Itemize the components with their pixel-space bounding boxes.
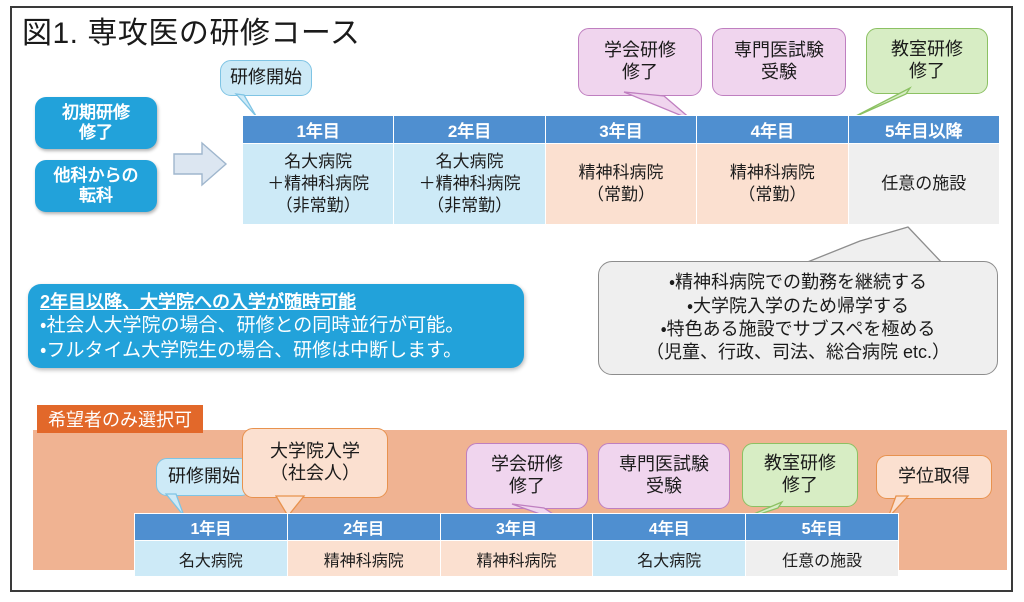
callout-label: 学会研修修了 xyxy=(491,454,563,498)
callout-kyoshitsu-kenshu-shuryo-top: 教室研修修了 xyxy=(866,28,988,94)
table-row: 名大病院＋精神科病院（非常勤） 名大病院＋精神科病院（非常勤） 精神科病院（常勤… xyxy=(243,144,1000,225)
training-track-table-top: 1年目 2年目 3年目 4年目 5年目以降 名大病院＋精神科病院（非常勤） 名大… xyxy=(242,115,1000,225)
entry-box-label: 初期研修修了 xyxy=(62,103,130,143)
note-line-1: ・精神科病院での勤務を継続する xyxy=(669,271,927,294)
callout-label: 学会研修修了 xyxy=(604,40,676,84)
page-title: 図1. 専攻医の研修コース xyxy=(22,8,360,52)
column-header-year3: 3年目 xyxy=(545,116,696,144)
callout-kyoshitsu-kenshu-shuryo-bottom: 教室研修修了 xyxy=(742,443,858,507)
column-header-year4: 4年目 xyxy=(593,514,746,541)
entry-box-label: 他科からの転科 xyxy=(54,166,139,206)
callout-label: 研修開始 xyxy=(168,466,240,488)
info-panel-line-2: ・フルタイム大学院生の場合、研修は中断します。 xyxy=(40,339,514,364)
note-line-2: ・大学院入学のため帰学する xyxy=(687,295,909,318)
table-cell-year2: 名大病院＋精神科病院（非常勤） xyxy=(394,144,545,225)
callout-label: 大学院入学（社会人） xyxy=(270,441,360,485)
callout-label: 学位取得 xyxy=(898,466,970,488)
column-header-year5plus: 5年目以降 xyxy=(848,116,999,144)
callout-kenshu-kaishi-bottom: 研修開始 xyxy=(156,458,252,496)
callout-kenshu-kaishi-top: 研修開始 xyxy=(220,60,312,96)
callout-senmoni-shiken-jyuken-top: 専門医試験受験 xyxy=(712,28,846,96)
table-cell-year4: 名大病院 xyxy=(593,541,746,577)
column-header-year1: 1年目 xyxy=(243,116,394,144)
callout-gakkai-kenshu-shuryo-bottom: 学会研修修了 xyxy=(466,443,588,509)
training-track-table-bottom: 1年目 2年目 3年目 4年目 5年目 名大病院 精神科病院 精神科病院 名大病… xyxy=(134,513,899,577)
note-line-4: （児童、行政、司法、総合病院 etc.） xyxy=(646,341,950,364)
table-cell-year5plus: 任意の施設 xyxy=(848,144,999,225)
info-panel-heading: 2年目以降、大学院への入学が随時可能 xyxy=(40,290,514,314)
column-header-year5: 5年目 xyxy=(746,514,899,541)
info-panel-line-1: ・社会人大学院の場合、研修との同時並行が可能。 xyxy=(40,314,514,339)
table-cell-year2: 精神科病院 xyxy=(287,541,440,577)
table-cell-year1: 名大病院 xyxy=(135,541,288,577)
optional-track-badge: 希望者のみ選択可 xyxy=(37,405,203,433)
table-cell-year1: 名大病院＋精神科病院（非常勤） xyxy=(243,144,394,225)
figure-canvas: 図1. 専攻医の研修コース 初期研修修了 他科からの転科 研修開始 学会研修修了… xyxy=(0,0,1024,602)
table-header-row: 1年目 2年目 3年目 4年目 5年目以降 xyxy=(243,116,1000,144)
callout-gakui-shutoku: 学位取得 xyxy=(876,455,992,499)
callout-label: 専門医試験受験 xyxy=(619,454,709,498)
callout-label: 専門医試験受験 xyxy=(734,40,824,84)
info-panel-graduate-school: 2年目以降、大学院への入学が随時可能 ・社会人大学院の場合、研修との同時並行が可… xyxy=(28,284,524,368)
callout-daigakuin-nyugaku: 大学院入学（社会人） xyxy=(242,428,388,498)
callout-senmoni-shiken-jyuken-bottom: 専門医試験受験 xyxy=(598,443,730,509)
note-panel-year5-options: ・精神科病院での勤務を継続する ・大学院入学のため帰学する ・特色ある施設でサブ… xyxy=(598,261,998,375)
table-cell-year5: 任意の施設 xyxy=(746,541,899,577)
column-header-year2: 2年目 xyxy=(394,116,545,144)
entry-box-takka-tenka: 他科からの転科 xyxy=(35,160,157,212)
column-header-year1: 1年目 xyxy=(135,514,288,541)
entry-box-shoki-kenshu: 初期研修修了 xyxy=(35,97,157,149)
column-header-year3: 3年目 xyxy=(440,514,593,541)
table-cell-year3: 精神科病院 xyxy=(440,541,593,577)
column-header-year2: 2年目 xyxy=(287,514,440,541)
callout-gakkai-kenshu-shuryo-top: 学会研修修了 xyxy=(578,28,702,96)
callout-label: 教室研修修了 xyxy=(891,39,963,83)
table-header-row: 1年目 2年目 3年目 4年目 5年目 xyxy=(135,514,899,541)
callout-label: 研修開始 xyxy=(230,67,302,89)
callout-label: 教室研修修了 xyxy=(764,453,836,497)
table-cell-year3: 精神科病院（常勤） xyxy=(545,144,696,225)
table-row: 名大病院 精神科病院 精神科病院 名大病院 任意の施設 xyxy=(135,541,899,577)
right-block-arrow-icon xyxy=(172,140,228,188)
table-cell-year4: 精神科病院（常勤） xyxy=(697,144,848,225)
note-line-3: ・特色ある施設でサブスペを極める xyxy=(661,318,936,341)
column-header-year4: 4年目 xyxy=(697,116,848,144)
